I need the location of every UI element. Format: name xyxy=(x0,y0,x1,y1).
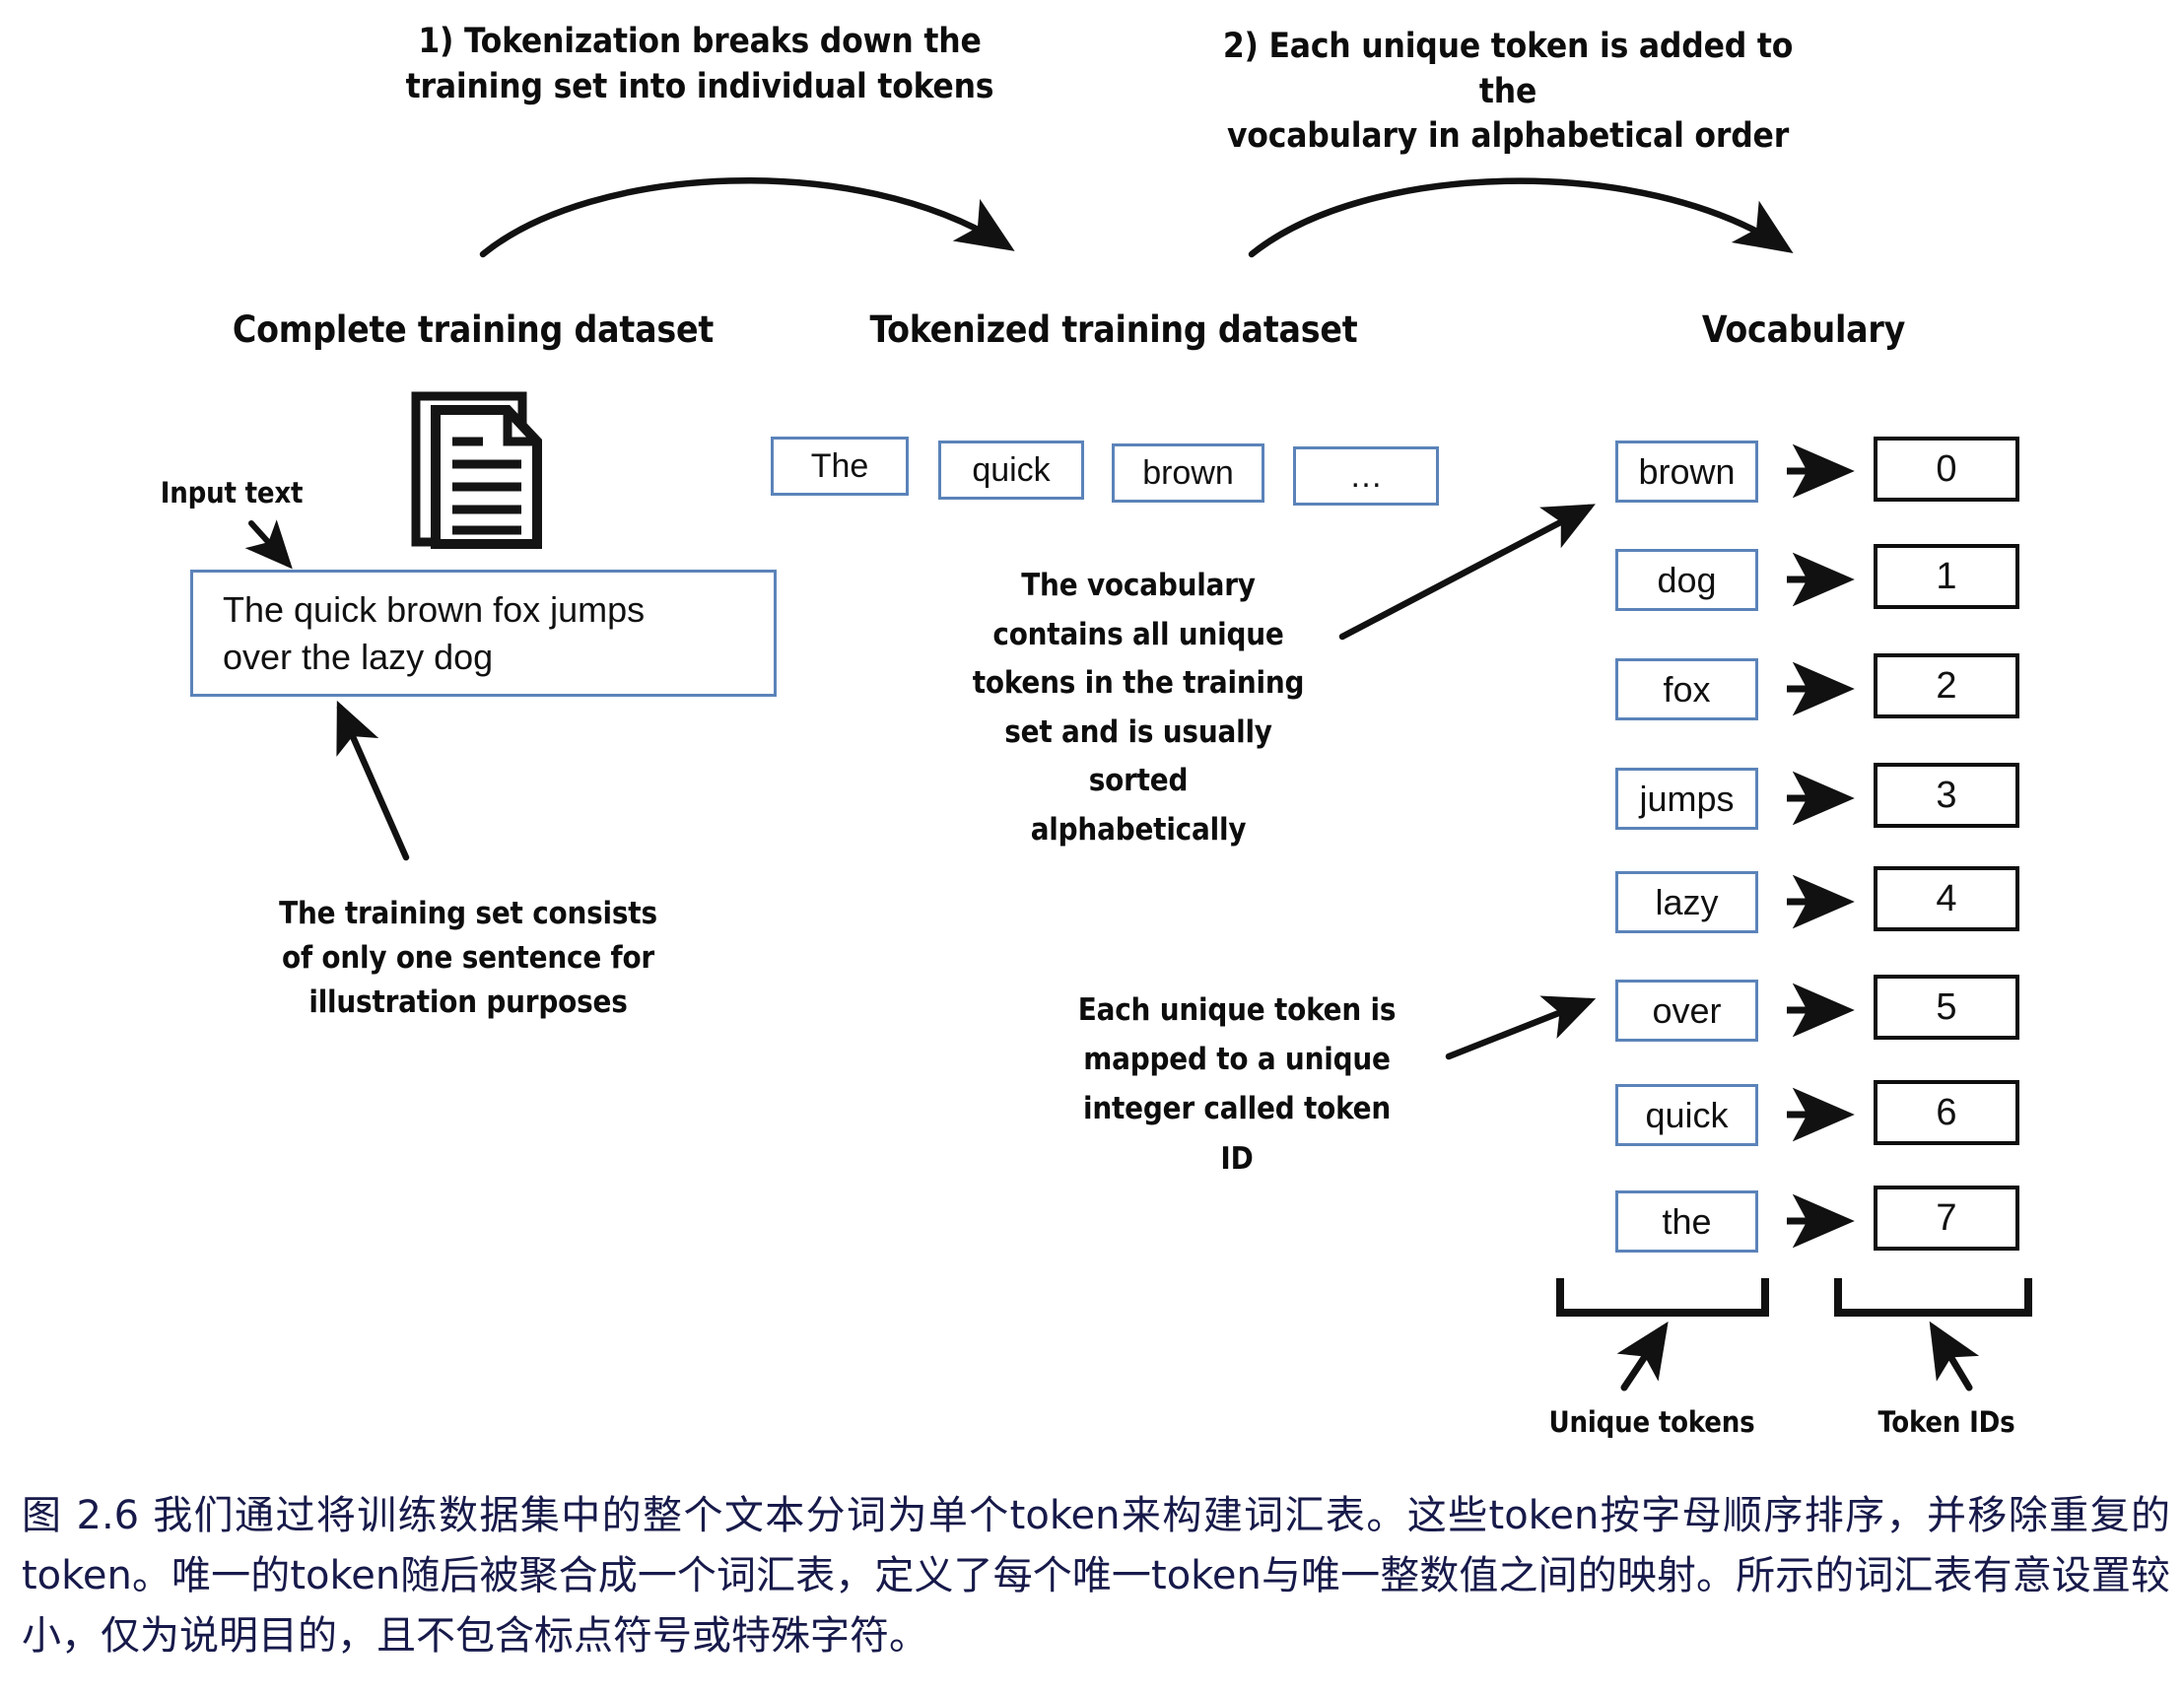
vocab-id-label: 0 xyxy=(1936,448,1956,491)
training-set-note-line-2: of only one sentence for xyxy=(251,936,685,981)
vocab-id-box-3: 3 xyxy=(1874,763,2019,828)
step-2-line-2: vocabulary in alphabetical order xyxy=(1193,114,1823,160)
input-text-line-2: over the lazy dog xyxy=(223,634,752,681)
vocab-token-label: dog xyxy=(1657,560,1716,601)
token-box-0: The xyxy=(771,437,909,496)
figure-caption: 图 2.6 我们通过将训练数据集中的整个文本分词为单个token来构建词汇表。这… xyxy=(22,1486,2170,1665)
step-2-line-1: 2) Each unique token is added to the xyxy=(1193,25,1823,114)
vocab-note-line-1: The vocabulary xyxy=(941,562,1335,611)
vocab-id-label: 1 xyxy=(1936,556,1956,598)
training-set-note-arrow xyxy=(340,708,406,857)
vocab-token-label: the xyxy=(1662,1201,1711,1243)
token-id-note-line-2: mapped to a unique xyxy=(1040,1035,1434,1084)
vocab-note-line-4: set and is usually xyxy=(941,709,1335,758)
training-set-note-line-3: illustration purposes xyxy=(251,981,685,1025)
input-text-box: The quick brown fox jumps over the lazy … xyxy=(190,570,777,697)
token-label: quick xyxy=(972,451,1050,490)
figure-canvas: 1) Tokenization breaks down the training… xyxy=(0,0,2184,1697)
training-set-note: The training set consists of only one se… xyxy=(251,892,685,1025)
token-ellipsis-label: … xyxy=(1349,457,1383,496)
unique-tokens-bracket xyxy=(1560,1278,1765,1313)
vocab-token-box-5: over xyxy=(1615,980,1758,1042)
vocabulary-explanation-note: The vocabulary contains all unique token… xyxy=(941,562,1335,855)
vocab-token-box-1: dog xyxy=(1615,549,1758,611)
vocab-note-line-5: sorted xyxy=(941,757,1335,806)
token-ids-bracket-label: Token IDs xyxy=(1818,1402,2075,1442)
vocab-note-line-3: tokens in the training xyxy=(941,659,1335,709)
vocab-token-box-4: lazy xyxy=(1615,871,1758,933)
column-title-left: Complete training dataset xyxy=(128,308,818,352)
token-ids-bracket-arrow xyxy=(1934,1328,1969,1388)
vocab-note-line-2: contains all unique xyxy=(941,611,1335,660)
vocab-token-box-7: the xyxy=(1615,1190,1758,1253)
vocab-id-box-7: 7 xyxy=(1874,1186,2019,1251)
stacked-documents-icon xyxy=(416,396,537,544)
token-box-2: brown xyxy=(1112,443,1264,503)
token-box-1: quick xyxy=(938,441,1084,500)
step-2-heading: 2) Each unique token is added to the voc… xyxy=(1193,25,1823,160)
token-id-note-line-3: integer called token xyxy=(1040,1084,1434,1133)
token-id-note-line-4: ID xyxy=(1040,1134,1434,1184)
vocab-token-box-2: fox xyxy=(1615,658,1758,720)
vocab-note-line-6: alphabetically xyxy=(941,806,1335,855)
vocab-token-label: quick xyxy=(1645,1095,1728,1136)
column-title-right: Vocabulary xyxy=(1508,308,2099,352)
input-text-label: Input text xyxy=(118,473,345,512)
vocab-id-box-4: 4 xyxy=(1874,866,2019,931)
vocab-token-box-6: quick xyxy=(1615,1084,1758,1146)
unique-tokens-bracket-label: Unique tokens xyxy=(1494,1402,1809,1442)
vocab-id-box-5: 5 xyxy=(1874,975,2019,1040)
vocab-token-box-3: jumps xyxy=(1615,768,1758,830)
vocab-token-box-0: brown xyxy=(1615,441,1758,503)
step-1-heading: 1) Tokenization breaks down the training… xyxy=(384,20,1015,109)
vocab-id-box-6: 6 xyxy=(1874,1080,2019,1145)
token-id-note-arrow xyxy=(1449,1001,1589,1056)
token-id-note-line-1: Each unique token is xyxy=(1040,985,1434,1035)
vocab-token-label: brown xyxy=(1638,451,1735,493)
vocab-id-box-1: 1 xyxy=(1874,544,2019,609)
vocab-mapping-arrows xyxy=(1787,471,1845,1221)
column-title-middle: Tokenized training dataset xyxy=(719,308,1508,352)
unique-tokens-bracket-arrow xyxy=(1624,1328,1664,1388)
vocab-id-label: 4 xyxy=(1936,878,1956,920)
token-label: The xyxy=(811,447,869,486)
token-box-3: … xyxy=(1293,446,1439,506)
token-label: brown xyxy=(1142,454,1234,493)
vocab-id-label: 3 xyxy=(1936,775,1956,817)
step-2-curved-arrow xyxy=(1252,181,1786,254)
vocab-id-label: 2 xyxy=(1936,665,1956,708)
vocab-id-box-2: 2 xyxy=(1874,653,2019,718)
vocabulary-note-arrow xyxy=(1342,508,1589,637)
vocab-token-label: fox xyxy=(1663,669,1710,711)
vocab-token-label: lazy xyxy=(1655,882,1718,923)
step-1-line-2: training set into individual tokens xyxy=(384,65,1015,110)
vocab-token-label: over xyxy=(1652,990,1721,1032)
input-text-pointer-arrow xyxy=(251,523,288,564)
vocab-id-label: 6 xyxy=(1936,1092,1956,1134)
token-ids-bracket xyxy=(1838,1278,2028,1313)
training-set-note-line-1: The training set consists xyxy=(251,892,685,936)
vocab-id-label: 7 xyxy=(1936,1197,1956,1240)
vocab-id-box-0: 0 xyxy=(1874,437,2019,502)
vocab-token-label: jumps xyxy=(1639,779,1734,820)
input-text-line-1: The quick brown fox jumps xyxy=(223,586,752,634)
step-1-curved-arrow xyxy=(483,180,1007,254)
token-id-explanation-note: Each unique token is mapped to a unique … xyxy=(1040,985,1434,1184)
vocab-id-label: 5 xyxy=(1936,986,1956,1029)
step-1-line-1: 1) Tokenization breaks down the xyxy=(384,20,1015,65)
